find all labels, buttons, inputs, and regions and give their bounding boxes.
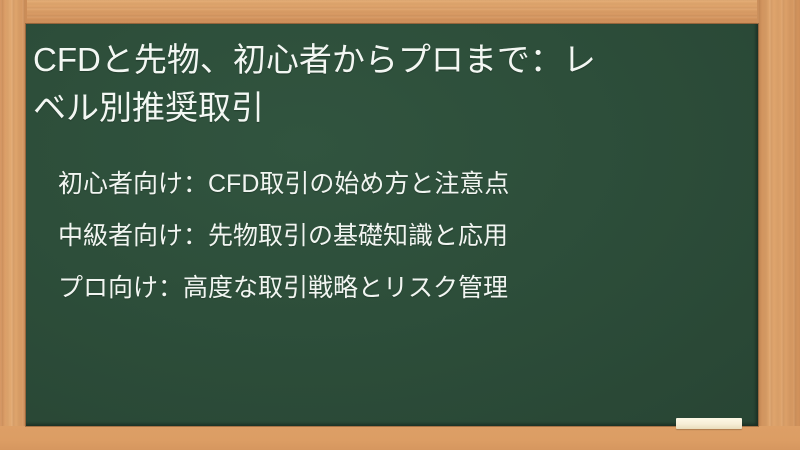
frame-rail-top xyxy=(0,0,800,26)
slide-canvas: CFDと先物、初心者からプロまで：レベル別推奨取引 初心者向け：CFD取引の始め… xyxy=(0,0,800,450)
bullet-list: 初心者向け：CFD取引の始め方と注意点 中級者向け：先物取引の基礎知識と応用 プ… xyxy=(58,158,748,314)
list-item: 初心者向け：CFD取引の始め方と注意点 xyxy=(58,158,748,210)
slide-title: CFDと先物、初心者からプロまで：レベル別推奨取引 xyxy=(33,36,733,132)
slide-title-line-2: ベル別推奨取引 xyxy=(33,89,264,126)
list-item: 中級者向け：先物取引の基礎知識と応用 xyxy=(58,210,748,262)
frame-rail-right xyxy=(757,0,800,450)
frame-ledge-bottom xyxy=(0,426,800,450)
slide-title-line-1: CFDと先物、初心者からプロまで：レ xyxy=(33,41,596,78)
chalkboard-content: CFDと先物、初心者からプロまで：レベル別推奨取引 初心者向け：CFD取引の始め… xyxy=(26,24,758,426)
chalkboard-surface: CFDと先物、初心者からプロまで：レベル別推奨取引 初心者向け：CFD取引の始め… xyxy=(26,24,758,426)
frame-rail-left xyxy=(0,0,27,450)
chalk-stick-icon xyxy=(676,418,742,429)
list-item: プロ向け：高度な取引戦略とリスク管理 xyxy=(58,262,748,314)
